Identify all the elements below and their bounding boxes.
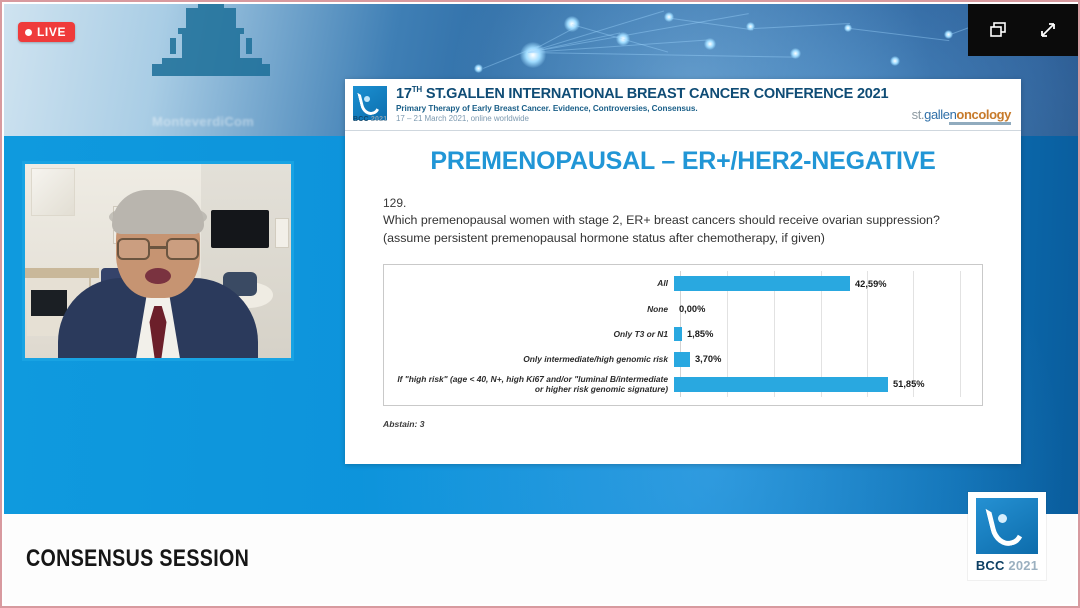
speaker-webcam-thumbnail[interactable] <box>22 161 294 361</box>
chart-bar <box>674 327 682 342</box>
session-title: CONSENSUS SESSION <box>26 545 249 573</box>
desk <box>25 268 99 278</box>
picture-in-picture-icon[interactable] <box>986 18 1010 42</box>
conference-title: 17TH ST.GALLEN INTERNATIONAL BREAST CANC… <box>396 86 888 102</box>
video-player: MonteverdiCom LIVE <box>0 0 1080 608</box>
bcc-badge-line1: BCC <box>976 558 1005 573</box>
wall-picture <box>31 168 75 216</box>
chart-category-label: If "high risk" (age < 40, N+, high Ki67 … <box>390 374 674 395</box>
slide-title: PREMENOPAUSAL – ER+/HER2-NEGATIVE <box>345 147 1021 176</box>
broadcast-stage: MonteverdiCom LIVE <box>4 4 1078 514</box>
player-controls <box>968 4 1078 56</box>
chart-category-label: Only T3 or N1 <box>390 329 674 340</box>
stgallen-oncology-logo: st.gallenoncology <box>912 107 1011 122</box>
slide-header: BCC 2021 17TH ST.GALLEN INTERNATIONAL BR… <box>345 79 1021 131</box>
chart-bar <box>674 377 888 393</box>
conference-title-rest: ST.GALLEN INTERNATIONAL BREAST CANCER CO… <box>422 86 888 102</box>
abstain-count: Abstain: 3 <box>383 419 425 429</box>
presentation-slide[interactable]: BCC 2021 17TH ST.GALLEN INTERNATIONAL BR… <box>345 79 1021 464</box>
fullscreen-icon[interactable] <box>1036 18 1060 42</box>
bcc-logo-label: BCC 2021 <box>353 116 387 123</box>
chart-value-label: 3,70% <box>690 354 721 364</box>
wall-television <box>211 210 269 248</box>
question-number: 129. <box>383 196 1021 210</box>
bcc-logo-line2: 2021 <box>371 116 387 123</box>
bcc-badge-label: BCC 2021 <box>976 558 1038 573</box>
chart-category-label: None <box>390 304 674 315</box>
live-badge-label: LIVE <box>37 25 66 39</box>
speaker-hair <box>112 190 204 234</box>
chart-value-label: 51,85% <box>888 379 925 389</box>
bcc-logo-icon <box>353 86 387 120</box>
chart-bar <box>674 352 690 367</box>
bcc-logo-line1: BCC <box>353 116 369 123</box>
chart-bar <box>674 276 850 291</box>
poll-results-chart: All 42,59% None 0,00% <box>383 264 983 406</box>
footer-bar: CONSENSUS SESSION BCC 2021 <box>4 514 1076 604</box>
conference-title-sup: TH <box>412 85 422 94</box>
chart-row: If "high risk" (age < 40, N+, high Ki67 … <box>390 372 968 397</box>
conference-title-prefix: 17 <box>396 86 412 102</box>
background-watermark: MonteverdiCom <box>152 114 254 129</box>
bcc-badge-line2: 2021 <box>1008 558 1038 573</box>
chart-value-label: 1,85% <box>682 329 713 339</box>
chart-rows: All 42,59% None 0,00% <box>390 271 968 397</box>
bcc-badge: BCC 2021 <box>968 492 1046 580</box>
sponsor-logo-underline <box>949 122 1011 125</box>
desk-monitor <box>31 290 67 316</box>
conference-date: 17 – 21 March 2021, online worldwide <box>396 114 888 123</box>
wall-picture <box>275 218 289 248</box>
conference-subtitle: Primary Therapy of Early Breast Cancer. … <box>396 104 888 113</box>
bcc-badge-icon <box>976 498 1038 554</box>
sponsor-logo-part2: gallen <box>924 107 956 122</box>
chart-row: Only intermediate/high genomic risk 3,70… <box>390 347 968 372</box>
speaker-mouth <box>145 268 171 284</box>
chart-value-label: 0,00% <box>674 304 705 314</box>
live-dot-icon <box>25 29 32 36</box>
live-badge: LIVE <box>18 22 75 42</box>
chart-row: Only T3 or N1 1,85% <box>390 321 968 346</box>
conference-heading: 17TH ST.GALLEN INTERNATIONAL BREAST CANC… <box>396 85 888 123</box>
chart-value-label: 42,59% <box>850 279 887 289</box>
speaker-glasses <box>117 238 199 260</box>
sponsor-logo-part1: st. <box>912 107 925 122</box>
chart-category-label: Only intermediate/high genomic risk <box>390 354 674 365</box>
chart-category-label: All <box>390 278 674 289</box>
question-text: Which premenopausal women with stage 2, … <box>383 212 983 247</box>
chart-row: None 0,00% <box>390 296 968 321</box>
sponsor-logo-part3: oncology <box>956 107 1011 122</box>
chart-row: All 42,59% <box>390 271 968 296</box>
